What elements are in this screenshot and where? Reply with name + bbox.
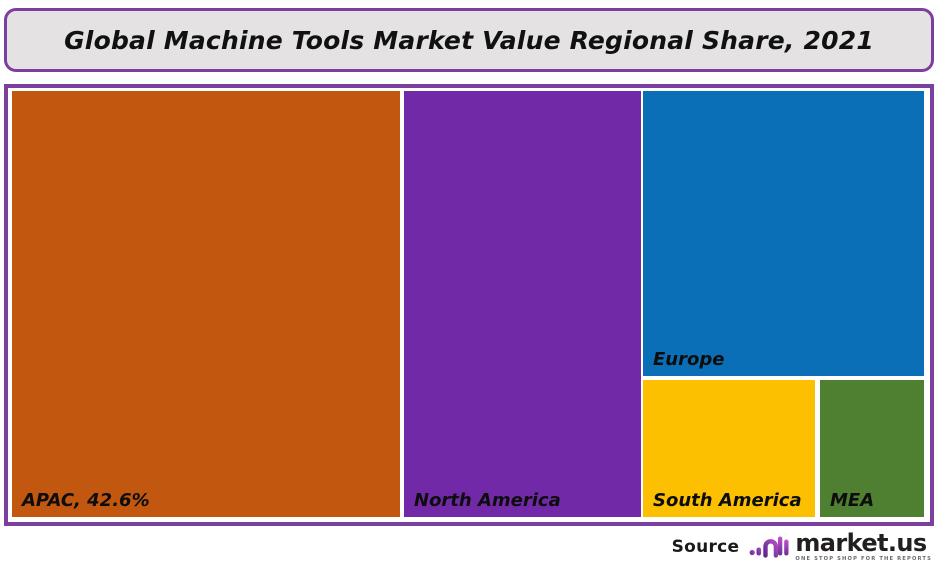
brand-text: market.us ONE STOP SHOP FOR THE REPORTS (795, 531, 932, 562)
treemap-tile-north-america[interactable]: North America (404, 91, 641, 517)
chart-title-banner: Global Machine Tools Market Value Region… (4, 8, 934, 72)
treemap-tile-south-america[interactable]: South America (643, 380, 815, 517)
page-title: Global Machine Tools Market Value Region… (64, 26, 874, 55)
treemap-tile-mea[interactable]: MEA (820, 380, 924, 517)
treemap-tile-label-mea: MEA (830, 491, 874, 511)
treemap-tile-europe[interactable]: Europe (643, 91, 924, 376)
brand-name: market.us (795, 531, 932, 555)
market-us-logo[interactable]: market.us ONE STOP SHOP FOR THE REPORTS (749, 531, 932, 562)
treemap-tile-label-apac: APAC, 42.6% (22, 491, 150, 511)
brand-tagline: ONE STOP SHOP FOR THE REPORTS (795, 557, 932, 562)
treemap-tile-label-north-america: North America (414, 491, 561, 511)
treemap-tile-label-south-america: South America (653, 491, 802, 511)
source-label: Source (672, 537, 740, 557)
chart-frame: APAC, 42.6% North America Europe South A… (4, 84, 934, 526)
treemap-tile-apac[interactable]: APAC, 42.6% (12, 91, 400, 517)
treemap-tile-label-europe: Europe (653, 350, 724, 370)
treemap-chart: APAC, 42.6% North America Europe South A… (8, 88, 930, 522)
source-row: Source market.us ONE STOP SHOP FOR THE R… (672, 530, 932, 564)
bar-chart-logo-icon (749, 533, 789, 561)
